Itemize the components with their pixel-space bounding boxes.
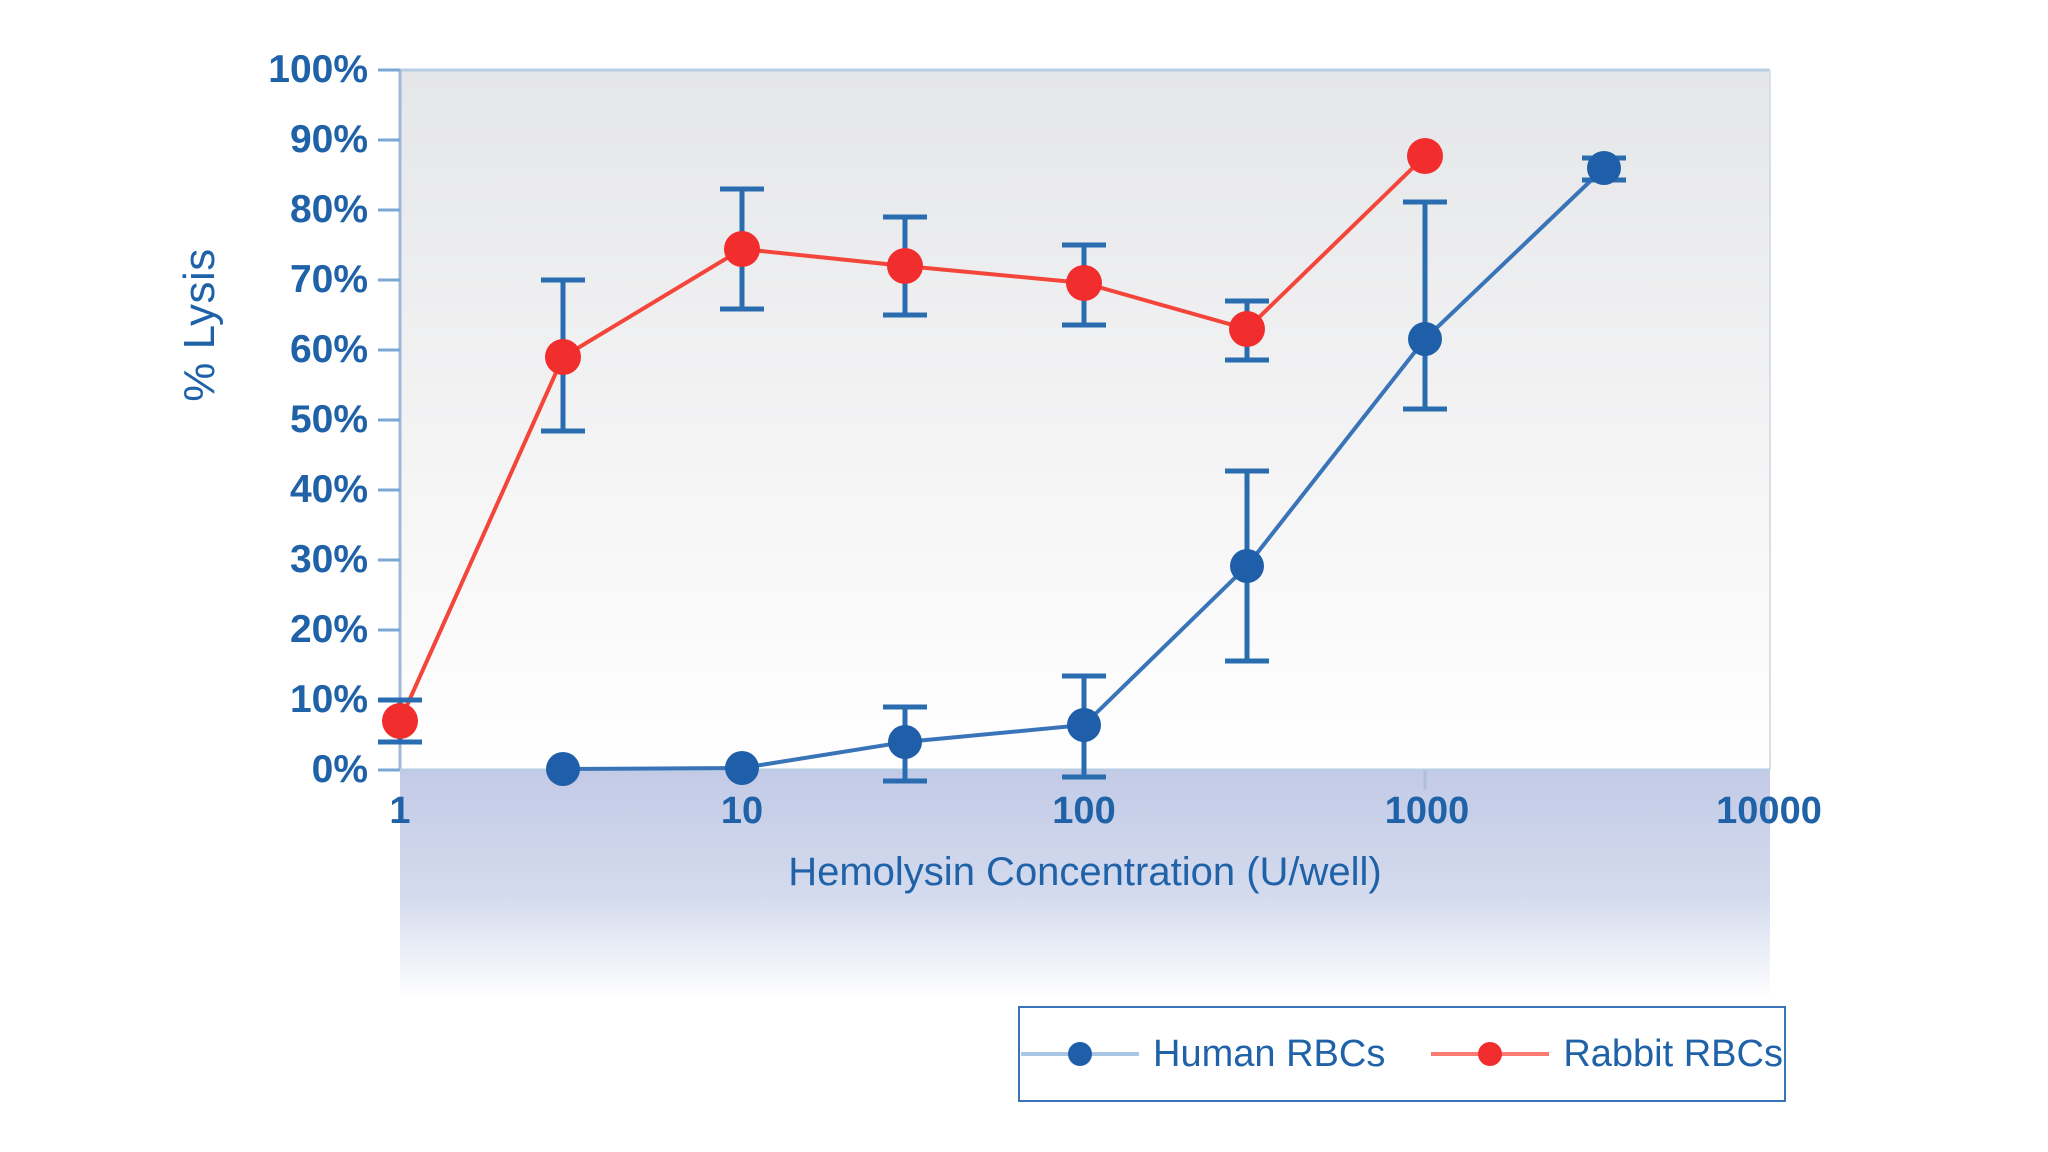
legend-swatch-rabbit-icon xyxy=(1431,1039,1549,1069)
legend-swatch-human-icon xyxy=(1021,1039,1139,1069)
y-axis-title: % Lysis xyxy=(175,115,225,535)
chart-legend: Human RBCs Rabbit RBCs xyxy=(1018,1006,1786,1102)
plot-background xyxy=(400,70,1770,770)
legend-item-human-rbcs[interactable]: Human RBCs xyxy=(1021,1033,1385,1076)
y-tick-marks xyxy=(378,70,400,770)
chart-figure: 100% 90% 80% 70% 60% 50% 40% 30% 20% 10%… xyxy=(0,0,2048,1152)
xtick-label-10: 10 xyxy=(721,790,763,833)
legend-label-rabbit: Rabbit RBCs xyxy=(1563,1033,1783,1076)
xtick-label-100: 100 xyxy=(1052,790,1115,833)
x-axis-title: Hemolysin Concentration (U/well) xyxy=(400,850,1770,895)
legend-label-human: Human RBCs xyxy=(1153,1033,1385,1076)
xtick-label-10000: 10000 xyxy=(1716,790,1822,833)
xtick-label-1: 1 xyxy=(389,790,410,833)
legend-item-rabbit-rbcs[interactable]: Rabbit RBCs xyxy=(1431,1033,1783,1076)
xtick-label-1000: 1000 xyxy=(1385,790,1470,833)
